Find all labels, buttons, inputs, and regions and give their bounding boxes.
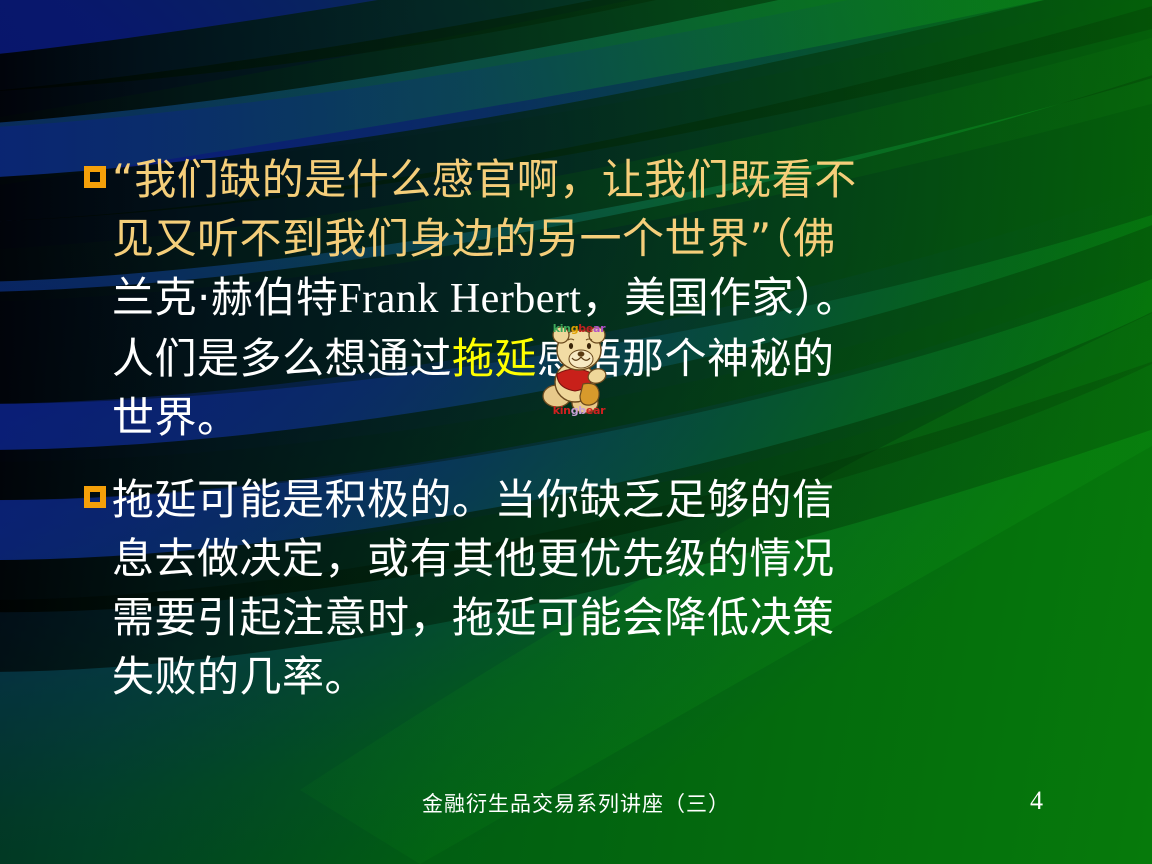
bullet-1-line-4-before: 人们是多么想通过 [112,334,452,383]
bullet-1-line-3-latin: Frank Herbert， [338,276,624,322]
bullet-1-line-2: 见又听不到我们身边的另一个世界”（佛 [112,214,836,263]
slide-content: “我们缺的是什么感官啊，让我们既看不 见又听不到我们身边的另一个世界”（佛 兰克… [0,0,1152,864]
page-number: 4 [1030,786,1043,816]
bullet-2-line-2: 息去做决定，或有其他更优先级的情况 [112,534,835,583]
bullet-1-paragraph: “我们缺的是什么感官啊，让我们既看不 见又听不到我们身边的另一个世界”（佛 兰克… [112,150,1064,447]
bullet-2-line-4: 失败的几率。 [112,652,367,701]
bullet-1-line-3-tail: 美国作家）。 [624,273,858,322]
bullet-1-line-4-after: 感悟那个神秘的 [537,334,835,383]
bullet-1-line-5: 世界。 [112,393,240,442]
bullet-2-line-3: 需要引起注意时，拖延可能会降低决策 [112,593,835,642]
bullet-square-icon-1 [84,166,106,188]
bullet-2-line-1: 拖延可能是积极的。当你缺乏足够的信 [112,475,835,524]
bullet-block-2: 拖延可能是积极的。当你缺乏足够的信 息去做决定，或有其他更优先级的情况 需要引起… [84,470,1064,706]
footer-title: 金融衍生品交易系列讲座（三） [0,788,1152,818]
bullet-1-line-3-cn: 兰克·赫伯特 [112,273,338,322]
bullet-1-line-4-highlight: 拖延 [452,334,537,383]
slide-canvas: “我们缺的是什么感官啊，让我们既看不 见又听不到我们身边的另一个世界”（佛 兰克… [0,0,1152,864]
bullet-2-paragraph: 拖延可能是积极的。当你缺乏足够的信 息去做决定，或有其他更优先级的情况 需要引起… [112,470,1064,706]
bullet-block-1: “我们缺的是什么感官啊，让我们既看不 见又听不到我们身边的另一个世界”（佛 兰克… [84,150,1064,447]
bullet-1-line-1: “我们缺的是什么感官啊，让我们既看不 [112,155,857,204]
bullet-square-icon-2 [84,486,106,508]
